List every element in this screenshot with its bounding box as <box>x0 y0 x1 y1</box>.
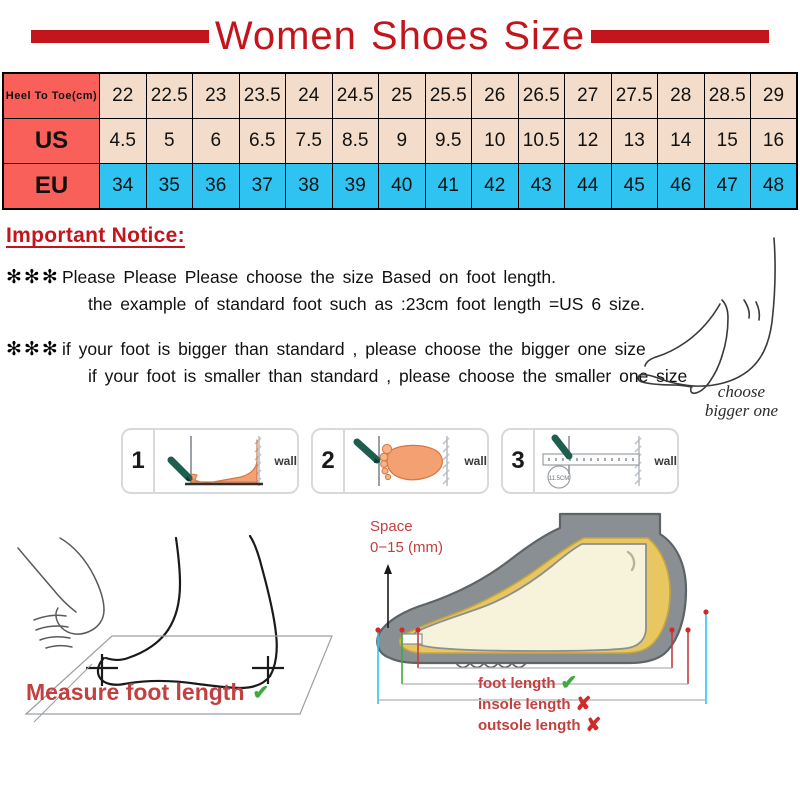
check-icon: ✔ <box>253 680 270 705</box>
cell-cm: 22 <box>100 73 147 119</box>
step-number-3: 3 <box>503 430 535 492</box>
cell-eu: 38 <box>286 164 333 210</box>
cell-eu: 44 <box>565 164 612 210</box>
cell-cm: 22.5 <box>146 73 193 119</box>
cell-eu: 40 <box>379 164 426 210</box>
cross-icon: ✘ <box>586 715 602 736</box>
cell-cm: 25 <box>379 73 426 119</box>
cell-eu: 43 <box>518 164 565 210</box>
table-row-eu: EU 34 35 36 37 38 39 40 41 42 43 44 45 4… <box>3 164 797 210</box>
cell-cm: 23 <box>193 73 240 119</box>
title-rule-right <box>591 30 769 43</box>
cell-us: 6.5 <box>239 119 286 164</box>
cell-cm: 26 <box>472 73 519 119</box>
cell-us: 5 <box>146 119 193 164</box>
cell-eu: 46 <box>658 164 705 210</box>
cell-us: 7.5 <box>286 119 333 164</box>
length-legend: foot length ✔ insole length ✘ outsole le… <box>478 673 601 736</box>
notice-block-2: ✻✻✻ if your foot is bigger than standard… <box>6 336 800 390</box>
table-row-us: US 4.5 5 6 6.5 7.5 8.5 9 9.5 10 10.5 12 … <box>3 119 797 164</box>
page-title-bar: WomenShoesSize <box>0 0 800 72</box>
ruler-value-label: 11.5CM <box>549 476 570 482</box>
cell-us: 12 <box>565 119 612 164</box>
cell-cm: 28.5 <box>704 73 751 119</box>
wall-label-2: wall <box>464 454 487 468</box>
cell-us: 9 <box>379 119 426 164</box>
step-number-1: 1 <box>123 430 155 492</box>
cross-icon: ✘ <box>576 694 592 715</box>
cell-cm: 27 <box>565 73 612 119</box>
measure-foot-length-text: Measure foot length <box>26 679 245 706</box>
cell-eu: 41 <box>425 164 472 210</box>
wall-label-3: wall <box>654 454 677 468</box>
notice-block-1: ✻✻✻ Please Please Please choose the size… <box>6 264 800 318</box>
space-label-line-2: 0−15 (mm) <box>370 537 443 558</box>
hand-marking-foot-icon <box>0 508 360 744</box>
cell-cm: 24.5 <box>332 73 379 119</box>
choose-bigger-one-caption: choose bigger one <box>705 382 778 420</box>
size-chart-table: Heel To Toe(cm) 22 22.5 23 23.5 24 24.5 … <box>2 72 798 210</box>
asterisk-icon: ✻✻✻ <box>6 336 62 361</box>
page-title: WomenShoesSize <box>215 14 585 59</box>
legend-label: foot length <box>478 673 555 694</box>
important-notice-section: Important Notice: ✻✻✻ Please Please Plea… <box>0 210 800 422</box>
legend-item-insole-length: insole length ✘ <box>478 694 601 715</box>
page-title-word-1: Women <box>215 14 357 58</box>
size-chart-table-wrap: Heel To Toe(cm) 22 22.5 23 23.5 24 24.5 … <box>0 72 800 210</box>
table-row-heel-to-toe: Heel To Toe(cm) 22 22.5 23 23.5 24 24.5 … <box>3 73 797 119</box>
step-number-2: 2 <box>313 430 345 492</box>
step-1-illustration: wall <box>155 430 299 492</box>
cell-eu: 36 <box>193 164 240 210</box>
cell-eu: 47 <box>704 164 751 210</box>
cell-us: 16 <box>751 119 798 164</box>
legend-label: outsole length <box>478 715 581 736</box>
row-label-heel-to-toe: Heel To Toe(cm) <box>3 73 100 119</box>
step-panel-3: 3 <box>501 428 679 494</box>
title-rule-left <box>31 30 209 43</box>
wall-label-1: wall <box>274 454 297 468</box>
cell-eu: 45 <box>611 164 658 210</box>
measuring-steps-strip: 1 wall 2 <box>0 422 800 502</box>
row-label-us: US <box>3 119 100 164</box>
cell-cm: 27.5 <box>611 73 658 119</box>
cell-us: 13 <box>611 119 658 164</box>
cell-us: 6 <box>193 119 240 164</box>
cell-us: 10 <box>472 119 519 164</box>
measure-foot-length-caption: Measure foot length ✔ <box>26 679 269 706</box>
row-label-eu: EU <box>3 164 100 210</box>
notice-line: Please Please Please choose the size Bas… <box>62 264 800 291</box>
step-2-illustration: wall <box>345 430 489 492</box>
cell-cm: 24 <box>286 73 333 119</box>
notice-line: the example of standard foot such as :23… <box>62 291 800 318</box>
cell-cm: 29 <box>751 73 798 119</box>
legend-label: insole length <box>478 694 571 715</box>
cell-cm: 23.5 <box>239 73 286 119</box>
cell-cm: 25.5 <box>425 73 472 119</box>
cell-us: 15 <box>704 119 751 164</box>
space-label-line-1: Space <box>370 516 443 537</box>
cell-eu: 42 <box>472 164 519 210</box>
cell-cm: 26.5 <box>518 73 565 119</box>
cell-eu: 48 <box>751 164 798 210</box>
space-annotation: Space 0−15 (mm) <box>370 516 443 558</box>
shoe-cross-section-panel: Space 0−15 (mm) foot length ✔ insole len… <box>360 508 800 742</box>
cell-eu: 39 <box>332 164 379 210</box>
step-3-illustration: 11.5CM wall <box>535 430 679 492</box>
cell-eu: 35 <box>146 164 193 210</box>
page-title-word-2: Shoes <box>371 14 489 58</box>
cell-us: 10.5 <box>518 119 565 164</box>
cell-us: 4.5 <box>100 119 147 164</box>
legend-item-outsole-length: outsole length ✘ <box>478 715 601 736</box>
cell-us: 14 <box>658 119 705 164</box>
choose-caption-line-1: choose <box>705 382 778 401</box>
notice-line: if your foot is bigger than standard , p… <box>62 336 800 363</box>
asterisk-icon: ✻✻✻ <box>6 264 62 289</box>
measure-foot-panel: Measure foot length ✔ <box>0 508 360 742</box>
cell-cm: 28 <box>658 73 705 119</box>
cell-eu: 34 <box>100 164 147 210</box>
legend-item-foot-length: foot length ✔ <box>478 673 601 694</box>
page-title-word-3: Size <box>503 14 585 58</box>
check-icon: ✔ <box>560 673 577 694</box>
notice-block-1-lines: Please Please Please choose the size Bas… <box>62 264 800 318</box>
notice-block-2-lines: if your foot is bigger than standard , p… <box>62 336 800 390</box>
step-panel-2: 2 wall <box>311 428 489 494</box>
notice-line: if your foot is smaller than standard , … <box>62 363 800 390</box>
bottom-illustrations: Measure foot length ✔ <box>0 502 800 742</box>
choose-caption-line-2: bigger one <box>705 401 778 420</box>
step-panel-1: 1 wall <box>121 428 299 494</box>
cell-us: 9.5 <box>425 119 472 164</box>
notice-title: Important Notice: <box>6 224 800 248</box>
cell-us: 8.5 <box>332 119 379 164</box>
cell-eu: 37 <box>239 164 286 210</box>
